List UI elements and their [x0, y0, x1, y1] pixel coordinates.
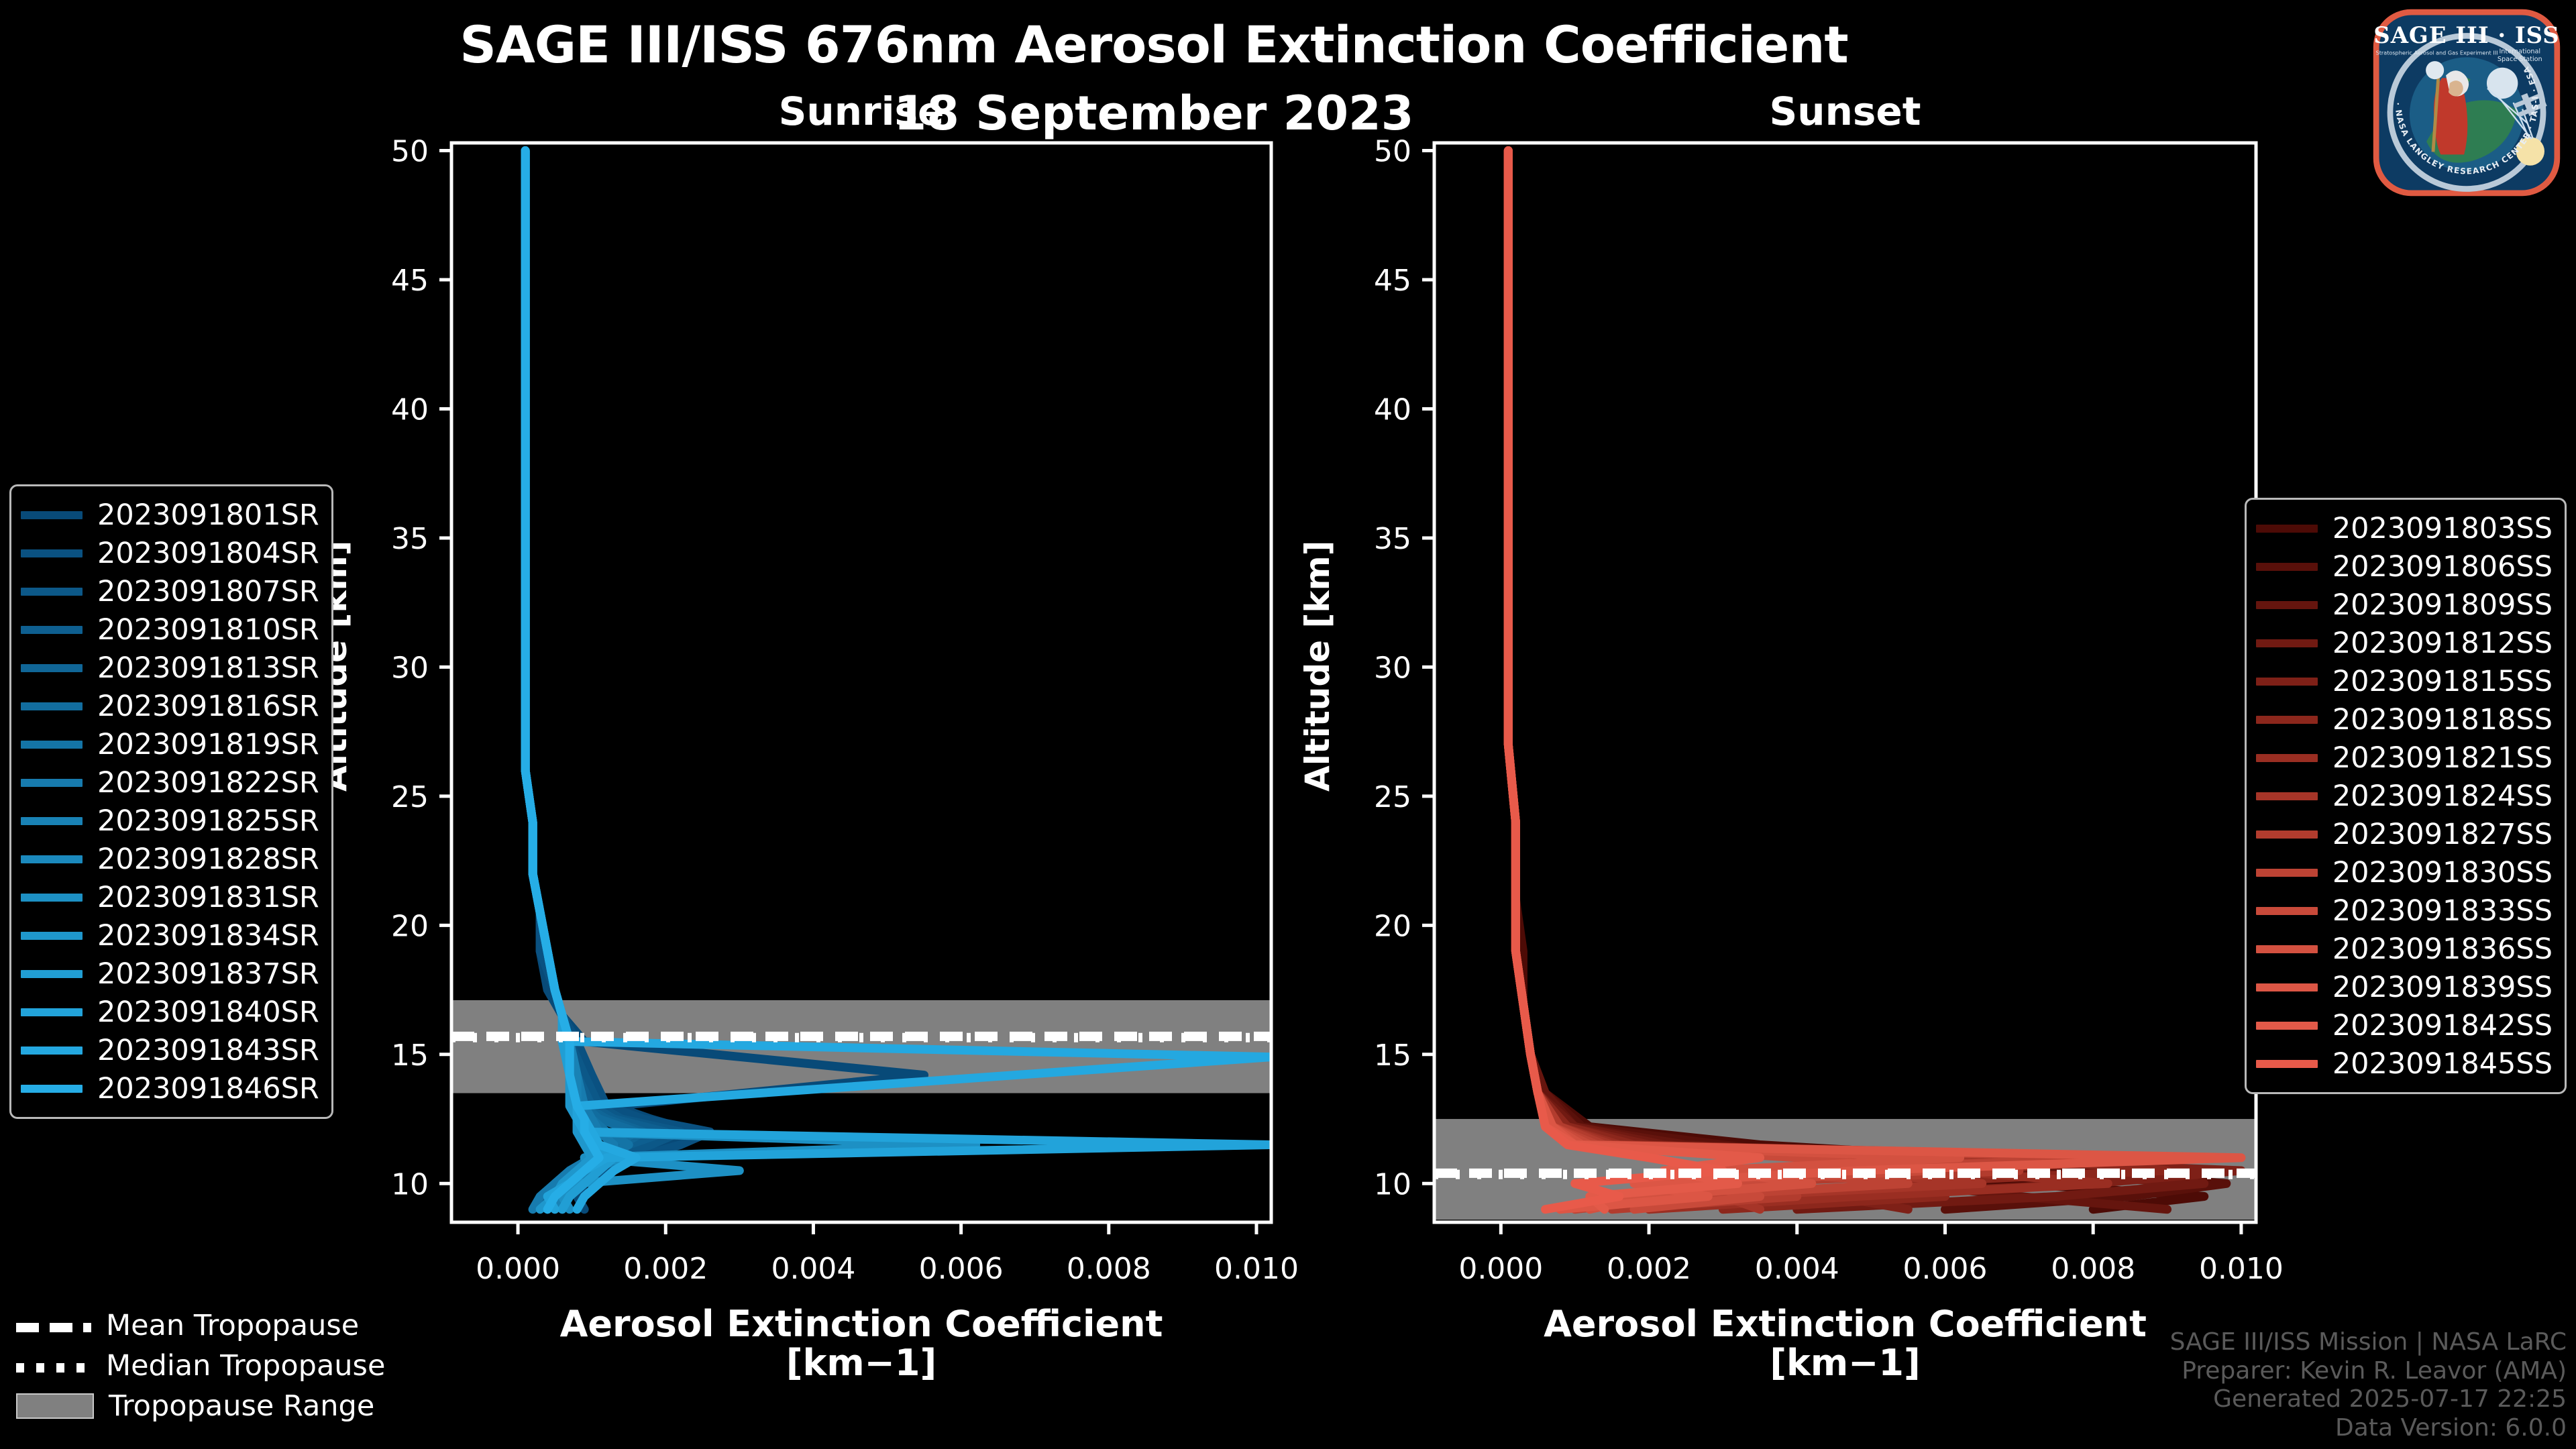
legend-item[interactable]: 2023091807SR [21, 572, 319, 610]
legend-item-label: 2023091830SS [2332, 856, 2553, 890]
aerosol-extinction-plots: 0.0000.0020.0040.0060.0080.0105045403530… [0, 0, 2576, 1449]
legend-item[interactable]: 2023091819SR [21, 725, 319, 763]
y-tick-label: 15 [391, 1038, 429, 1073]
svg-text:Space Station: Space Station [2498, 56, 2542, 63]
right-x-axis-label: Aerosol Extinction Coefficient [km−1] [1434, 1305, 2256, 1383]
tropopause-legend-item: Tropopause Range [16, 1386, 385, 1426]
legend-item-label: 2023091810SR [97, 613, 319, 647]
legend-color-swatch [2256, 830, 2318, 839]
legend-item-label: 2023091845SS [2332, 1047, 2553, 1081]
legend-item[interactable]: 2023091801SR [21, 496, 319, 534]
legend-item[interactable]: 2023091804SR [21, 534, 319, 572]
profile-line [1508, 151, 2182, 1210]
x-tick-label: 0.000 [1458, 1252, 1543, 1286]
legend-item[interactable]: 2023091827SS [2256, 815, 2553, 853]
y-tick-label: 15 [1374, 1038, 1411, 1073]
credits-line: Generated 2025-07-17 22:25 [2170, 1385, 2567, 1413]
profile-line [1508, 151, 2152, 1210]
legend-item[interactable]: 2023091815SS [2256, 662, 2553, 700]
legend-color-swatch [21, 588, 83, 596]
y-tick-label: 50 [391, 135, 429, 169]
legend-color-swatch [21, 626, 83, 634]
legend-item-label: 2023091827SS [2332, 818, 2553, 851]
legend-item[interactable]: 2023091810SR [21, 610, 319, 649]
legend-color-swatch [21, 970, 83, 978]
legend-item-label: 2023091825SR [97, 804, 319, 838]
legend-item[interactable]: 2023091821SS [2256, 739, 2553, 777]
legend-item-label: 2023091837SR [97, 957, 319, 991]
legend-item[interactable]: 2023091842SS [2256, 1006, 2553, 1044]
profile-line [1508, 151, 1723, 1210]
legend-color-swatch [21, 817, 83, 825]
y-tick-label: 20 [391, 909, 429, 943]
y-tick-label: 40 [1374, 392, 1411, 427]
band-swatch [16, 1393, 94, 1419]
y-tick-label: 50 [1374, 135, 1411, 169]
legend-item[interactable]: 2023091813SR [21, 649, 319, 687]
profile-line [1508, 151, 2226, 1210]
legend-color-swatch [2256, 983, 2318, 991]
sage-iii-iss-logo: SAGE III · ISSStratospheric Aerosol and … [2369, 5, 2564, 200]
legend-item[interactable]: 2023091837SR [21, 955, 319, 993]
legend-item-label: 2023091813SR [97, 651, 319, 685]
tropopause-legend: Mean TropopauseMedian TropopauseTropopau… [16, 1305, 385, 1426]
credits-line: Preparer: Kevin R. Leavor (AMA) [2170, 1357, 2567, 1385]
legend-color-swatch [2256, 639, 2318, 647]
tropopause-legend-label: Mean Tropopause [106, 1309, 359, 1342]
x-tick-label: 0.008 [2051, 1252, 2135, 1286]
y-tick-label: 25 [1374, 780, 1411, 814]
legend-item[interactable]: 2023091803SS [2256, 509, 2553, 547]
legend-color-swatch [2256, 869, 2318, 877]
legend-item-label: 2023091839SS [2332, 971, 2553, 1004]
sunrise-legend[interactable]: 2023091801SR2023091804SR2023091807SR2023… [9, 484, 333, 1119]
legend-item[interactable]: 2023091830SS [2256, 853, 2553, 892]
profile-line [1508, 151, 2204, 1210]
legend-item[interactable]: 2023091828SR [21, 840, 319, 878]
y-tick-label: 40 [391, 392, 429, 427]
legend-item[interactable]: 2023091834SR [21, 916, 319, 955]
legend-color-swatch [21, 855, 83, 863]
legend-color-swatch [2256, 907, 2318, 915]
legend-color-swatch [21, 664, 83, 672]
legend-item-label: 2023091816SR [97, 690, 319, 723]
legend-item-label: 2023091828SR [97, 843, 319, 876]
legend-color-swatch [21, 894, 83, 902]
legend-item[interactable]: 2023091831SR [21, 878, 319, 916]
legend-color-swatch [2256, 754, 2318, 762]
legend-item-label: 2023091843SR [97, 1034, 319, 1067]
x-tick-label: 0.002 [623, 1252, 708, 1286]
credits-line: Data Version: 6.0.0 [2170, 1414, 2567, 1442]
mission-patch-graphic: SAGE III · ISSStratospheric Aerosol and … [2369, 5, 2564, 200]
svg-text:International: International [2499, 48, 2540, 56]
x-tick-label: 0.006 [1903, 1252, 1988, 1286]
legend-item[interactable]: 2023091836SS [2256, 930, 2553, 968]
profile-line [1508, 151, 2241, 1210]
y-tick-label: 30 [1374, 651, 1411, 685]
x-tick-label: 0.000 [476, 1252, 560, 1286]
legend-item[interactable]: 2023091806SS [2256, 547, 2553, 586]
right-y-axis-label: Altitude [km] [1298, 540, 1337, 792]
legend-item[interactable]: 2023091822SR [21, 763, 319, 802]
legend-item-label: 2023091840SR [97, 996, 319, 1029]
legend-color-swatch [2256, 945, 2318, 953]
legend-item[interactable]: 2023091809SS [2256, 586, 2553, 624]
profile-line [1508, 151, 2167, 1210]
legend-color-swatch [2256, 716, 2318, 724]
x-tick-label: 0.006 [919, 1252, 1004, 1286]
legend-item[interactable]: 2023091824SS [2256, 777, 2553, 815]
tropopause-legend-item: Median Tropopause [16, 1346, 385, 1386]
y-tick-label: 20 [1374, 909, 1411, 943]
profile-line [1508, 151, 2167, 1210]
legend-color-swatch [2256, 1022, 2318, 1030]
legend-color-swatch [2256, 678, 2318, 686]
legend-item[interactable]: 2023091812SS [2256, 624, 2553, 662]
legend-color-swatch [2256, 601, 2318, 609]
profile-line [1508, 151, 2019, 1210]
y-tick-label: 35 [1374, 522, 1411, 556]
legend-item[interactable]: 2023091840SR [21, 993, 319, 1031]
sunrise-plot-area: 0.0000.0020.0040.0060.0080.0105045403530… [391, 135, 1299, 1286]
profile-line [1508, 151, 2056, 1210]
sunset-plot-area: 0.0000.0020.0040.0060.0080.0105045403530… [1374, 135, 2284, 1286]
dashed-line-key [16, 1323, 91, 1332]
svg-text:Stratospheric Aerosol and Gas: Stratospheric Aerosol and Gas Experiment… [2376, 49, 2498, 56]
legend-item-label: 2023091803SS [2332, 512, 2553, 545]
tropopause-legend-item: Mean Tropopause [16, 1305, 385, 1346]
legend-item-label: 2023091818SS [2332, 703, 2553, 737]
x-tick-label: 0.004 [1755, 1252, 1839, 1286]
svg-text:SAGE III · ISS: SAGE III · ISS [2373, 21, 2559, 48]
y-tick-label: 45 [1374, 264, 1411, 298]
legend-color-swatch [21, 549, 83, 557]
left-x-axis-label-line1: Aerosol Extinction Coefficient [560, 1303, 1163, 1345]
dotted-line-key [16, 1363, 91, 1373]
legend-item[interactable]: 2023091833SS [2256, 892, 2553, 930]
legend-item-label: 2023091833SS [2332, 894, 2553, 928]
legend-item[interactable]: 2023091846SR [21, 1069, 319, 1108]
legend-color-swatch [21, 511, 83, 519]
legend-color-swatch [21, 702, 83, 710]
x-tick-label: 0.002 [1607, 1252, 1691, 1286]
tropopause-legend-label: Tropopause Range [109, 1389, 374, 1423]
left-x-axis-label: Aerosol Extinction Coefficient [km−1] [451, 1305, 1271, 1383]
legend-item-label: 2023091801SR [97, 498, 319, 532]
legend-color-swatch [2256, 525, 2318, 533]
profile-line [1508, 151, 1930, 1210]
legend-color-swatch [21, 932, 83, 940]
legend-item-label: 2023091822SR [97, 766, 319, 800]
legend-item-label: 2023091819SR [97, 728, 319, 761]
right-x-axis-label-line2: [km−1] [1770, 1342, 1920, 1384]
legend-item[interactable]: 2023091845SS [2256, 1044, 2553, 1083]
legend-color-swatch [21, 741, 83, 749]
legend-item-label: 2023091807SR [97, 575, 319, 608]
legend-item[interactable]: 2023091825SR [21, 802, 319, 840]
legend-item-label: 2023091846SR [97, 1072, 319, 1106]
legend-item-label: 2023091836SS [2332, 932, 2553, 966]
profile-line [1508, 151, 1960, 1210]
legend-color-swatch [21, 1046, 83, 1055]
profile-line [1508, 151, 2241, 1210]
sunset-legend[interactable]: 2023091803SS2023091806SS2023091809SS2023… [2245, 498, 2567, 1094]
y-tick-label: 45 [391, 264, 429, 298]
legend-item-label: 2023091821SS [2332, 741, 2553, 775]
legend-color-swatch [2256, 1060, 2318, 1068]
legend-item-label: 2023091834SR [97, 919, 319, 953]
legend-item-label: 2023091831SR [97, 881, 319, 914]
legend-item[interactable]: 2023091816SR [21, 687, 319, 725]
legend-item[interactable]: 2023091843SR [21, 1031, 319, 1069]
profile-line [1508, 151, 2204, 1210]
legend-item-label: 2023091815SS [2332, 665, 2553, 698]
x-tick-label: 0.010 [1214, 1252, 1299, 1286]
x-tick-label: 0.004 [771, 1252, 855, 1286]
right-x-axis-label-line1: Aerosol Extinction Coefficient [1544, 1303, 2147, 1345]
legend-color-swatch [2256, 563, 2318, 571]
legend-item-label: 2023091806SS [2332, 550, 2553, 584]
credits-line: SAGE III/ISS Mission | NASA LaRC [2170, 1328, 2567, 1356]
x-tick-label: 0.008 [1067, 1252, 1151, 1286]
legend-item[interactable]: 2023091839SS [2256, 968, 2553, 1006]
profile-line [1508, 151, 1760, 1210]
legend-item-label: 2023091809SS [2332, 588, 2553, 622]
legend-color-swatch [21, 1085, 83, 1093]
legend-color-swatch [21, 1008, 83, 1016]
legend-item[interactable]: 2023091818SS [2256, 700, 2553, 739]
y-tick-label: 35 [391, 522, 429, 556]
plot-frame [1434, 143, 2256, 1222]
legend-item-label: 2023091842SS [2332, 1009, 2553, 1042]
legend-item-label: 2023091812SS [2332, 627, 2553, 660]
legend-color-swatch [21, 779, 83, 787]
tropopause-legend-label: Median Tropopause [106, 1349, 385, 1383]
legend-color-swatch [2256, 792, 2318, 800]
y-tick-label: 30 [391, 651, 429, 685]
left-x-axis-label-line2: [km−1] [786, 1342, 936, 1384]
y-tick-label: 10 [1374, 1167, 1411, 1201]
x-tick-label: 0.010 [2199, 1252, 2284, 1286]
credits-block: SAGE III/ISS Mission | NASA LaRCPreparer… [2170, 1328, 2567, 1442]
legend-item-label: 2023091804SR [97, 537, 319, 570]
y-tick-label: 25 [391, 780, 429, 814]
y-tick-label: 10 [391, 1167, 429, 1201]
legend-item-label: 2023091824SS [2332, 780, 2553, 813]
